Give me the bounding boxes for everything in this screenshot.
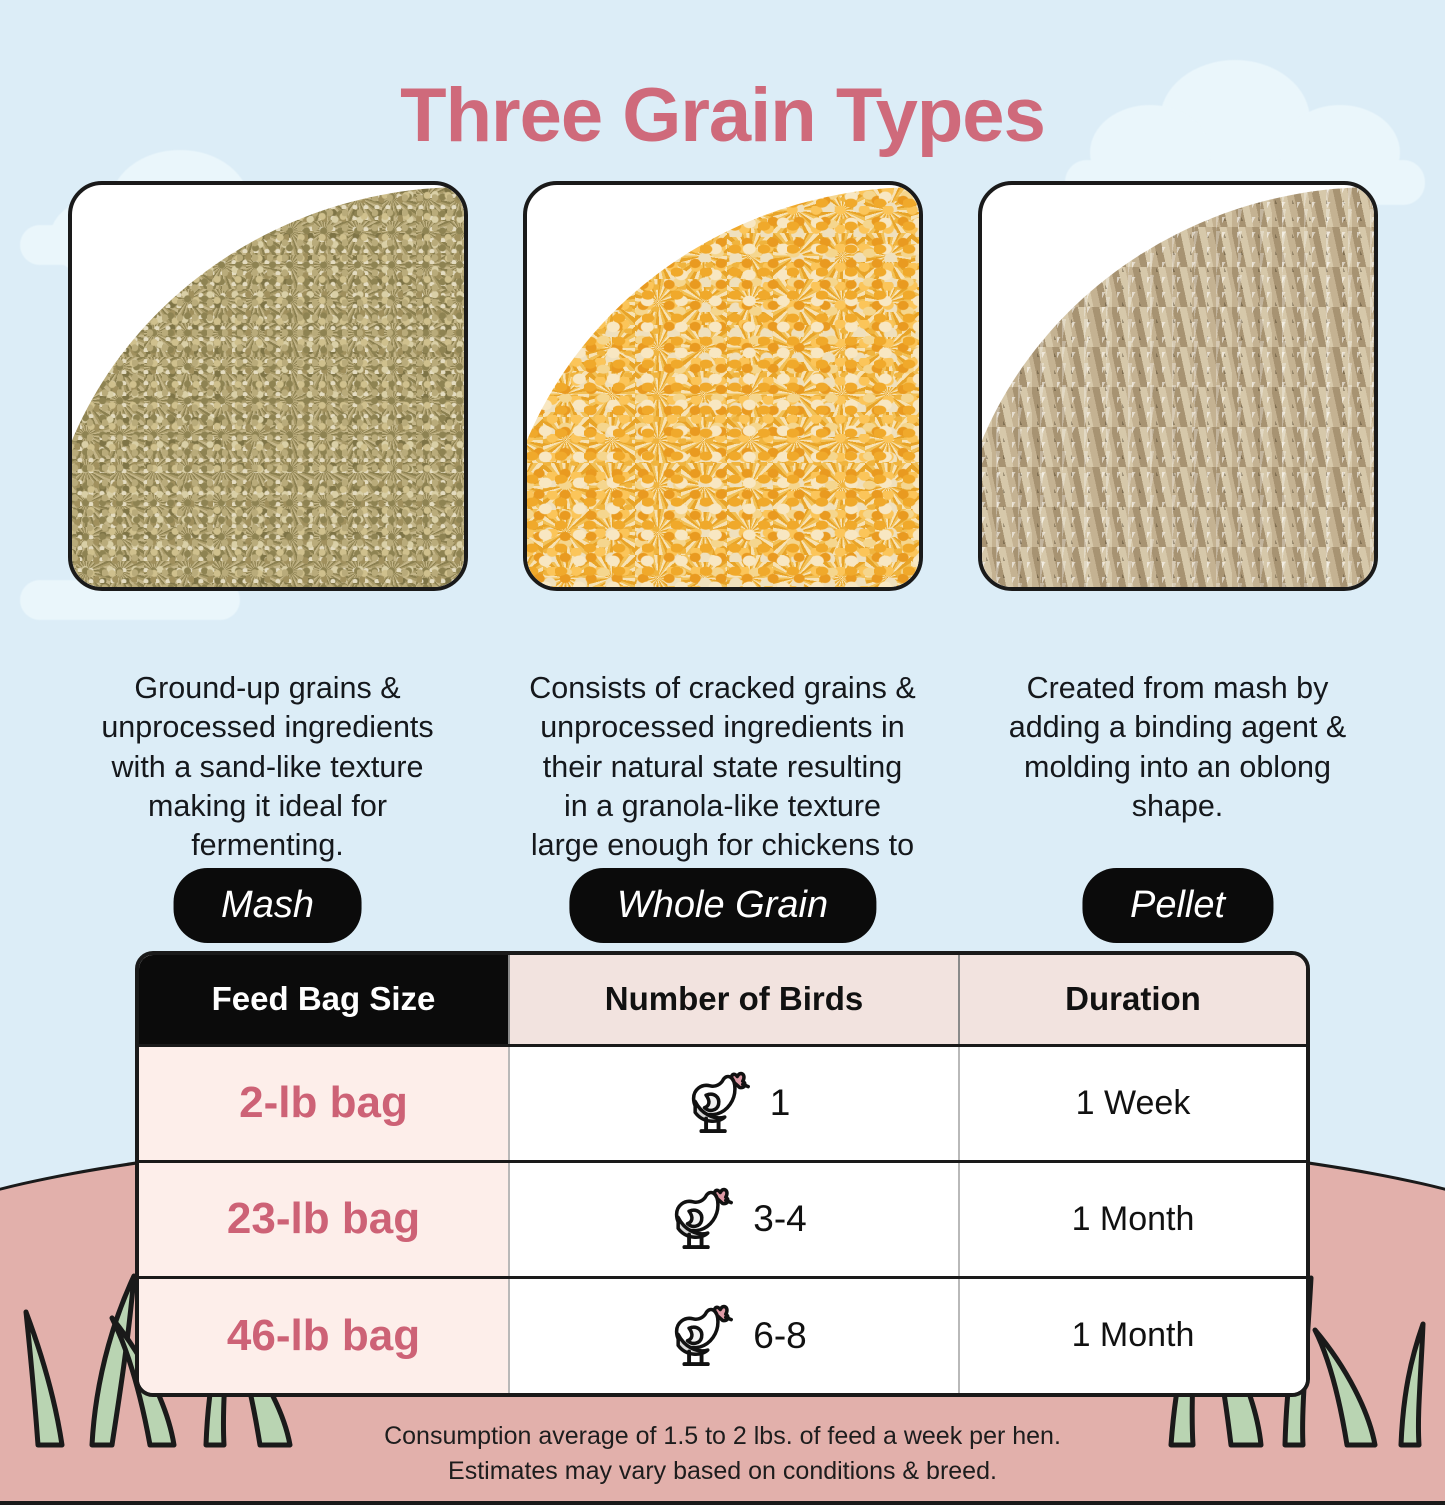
- column-header-duration: Duration: [959, 955, 1306, 1045]
- table-row: 23-lb bag: [139, 1161, 1306, 1277]
- grain-photo-frame: [978, 181, 1378, 591]
- grain-label-pill: Whole Grain: [569, 868, 876, 943]
- page-title: Three Grain Types: [0, 72, 1445, 159]
- grain-photo-frame: [523, 181, 923, 591]
- cell-bag-size: 2-lb bag: [139, 1045, 509, 1161]
- cell-duration: 1 Month: [959, 1161, 1306, 1277]
- chicken-icon: [678, 1064, 756, 1142]
- cell-number-of-birds: 6-8: [509, 1277, 959, 1393]
- birds-count-label: 1: [770, 1082, 791, 1124]
- chicken-icon: [661, 1180, 739, 1258]
- grain-photo-frame: [68, 181, 468, 591]
- grain-label-pill: Pellet: [1082, 868, 1273, 943]
- cell-duration: 1 Week: [959, 1045, 1306, 1161]
- cell-bag-size: 23-lb bag: [139, 1161, 509, 1277]
- column-header-feed-bag-size: Feed Bag Size: [139, 955, 509, 1045]
- grain-card-mash: Mash Ground-up grains & unprocessed ingr…: [68, 181, 468, 905]
- grain-description: Ground-up grains & unprocessed ingredien…: [68, 669, 468, 866]
- mash-grain-photo: [68, 187, 466, 589]
- chicken-icon: [661, 1297, 739, 1375]
- footnote-line-2: Estimates may vary based on conditions &…: [0, 1454, 1445, 1489]
- birds-count-label: 3-4: [753, 1198, 806, 1240]
- grain-card-whole-grain: Whole Grain Consists of cracked grains &…: [523, 181, 923, 905]
- cell-bag-size: 46-lb bag: [139, 1277, 509, 1393]
- table-row: 46-lb bag: [139, 1277, 1306, 1393]
- grain-label-pill: Mash: [173, 868, 362, 943]
- feed-bag-table: Feed Bag Size Number of Birds Duration 2…: [135, 951, 1310, 1397]
- whole-grain-photo: [523, 187, 921, 589]
- cell-number-of-birds: 1: [509, 1045, 959, 1161]
- cell-duration: 1 Month: [959, 1277, 1306, 1393]
- cell-number-of-birds: 3-4: [509, 1161, 959, 1277]
- footnote-line-1: Consumption average of 1.5 to 2 lbs. of …: [0, 1419, 1445, 1454]
- infographic-content: Three Grain Types Mash Ground-up grains …: [0, 0, 1445, 1445]
- grain-description: Created from mash by adding a binding ag…: [978, 669, 1378, 826]
- pellet-grain-photo: [978, 187, 1376, 589]
- column-header-number-of-birds: Number of Birds: [509, 955, 959, 1045]
- table-row: 2-lb bag: [139, 1045, 1306, 1161]
- grain-card-pellet: Pellet Created from mash by adding a bin…: [978, 181, 1378, 905]
- footnote: Consumption average of 1.5 to 2 lbs. of …: [0, 1419, 1445, 1489]
- grain-card-list: Mash Ground-up grains & unprocessed ingr…: [0, 181, 1445, 905]
- birds-count-label: 6-8: [753, 1315, 806, 1357]
- table-header-row: Feed Bag Size Number of Birds Duration: [139, 955, 1306, 1045]
